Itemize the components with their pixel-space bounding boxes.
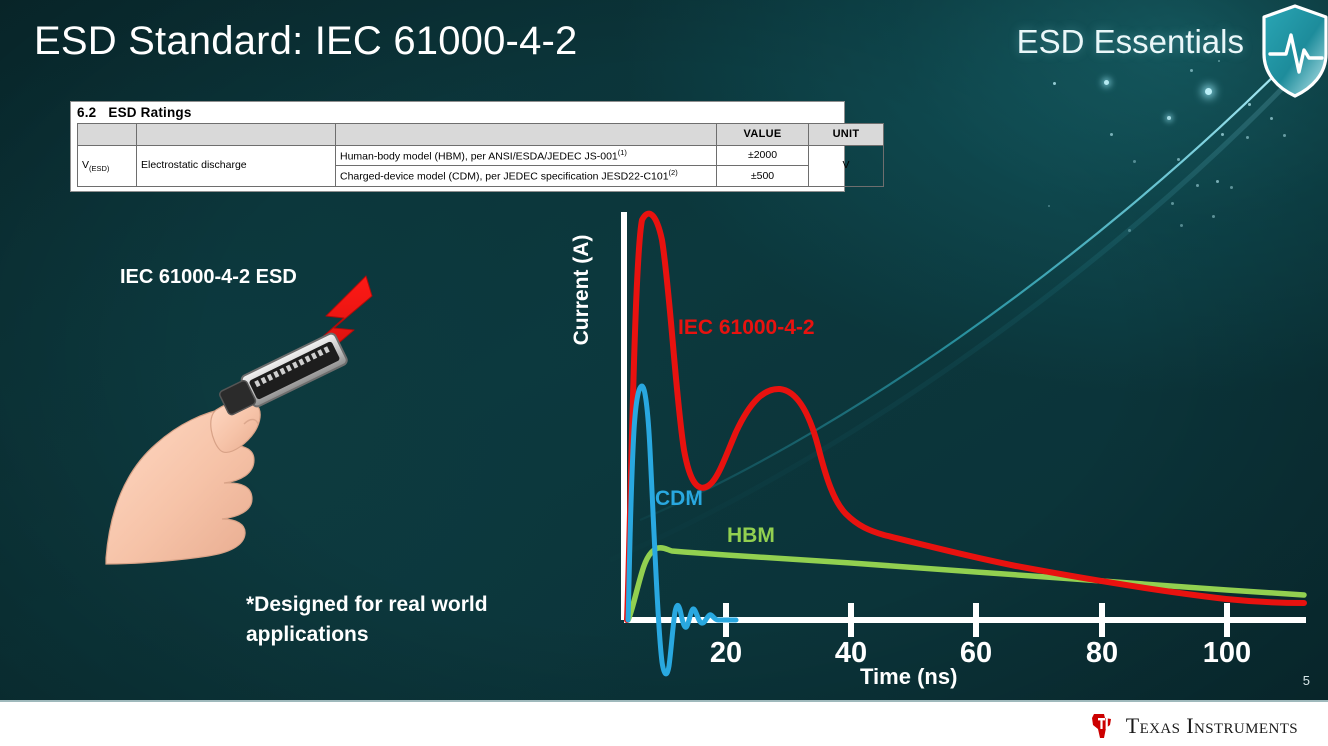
note-line-2: applications: [246, 623, 369, 646]
section-title: ESD Ratings: [108, 105, 191, 120]
series-line-iec: [627, 214, 1304, 620]
esd-waveform-chart: 20 40 60 80 100: [566, 200, 1311, 700]
x-tick-label-100: 100: [1203, 637, 1251, 669]
hand-holding-hdmi-connector-icon: [96, 258, 426, 568]
header-blank-symbol: [78, 124, 137, 146]
hdmi-connector-icon: [217, 332, 349, 420]
description-text: Charged-device model (CDM), per JEDEC sp…: [340, 171, 669, 183]
shield-heartbeat-icon: [1258, 2, 1328, 100]
cell-value-hbm: ±2000: [717, 146, 809, 166]
esd-ratings-table: 6.2ESD Ratings VALUE UNIT V(ESD) Electro…: [70, 101, 845, 192]
footnote-marker: (2): [669, 168, 678, 177]
cell-symbol: V(ESD): [78, 146, 137, 187]
brand-label: ESD Essentials: [1017, 23, 1244, 61]
header-unit: UNIT: [809, 124, 884, 146]
table-row: V(ESD) Electrostatic discharge Human-bod…: [78, 146, 884, 166]
series-label-cdm: CDM: [655, 487, 703, 511]
description-text: Human-body model (HBM), per ANSI/ESDA/JE…: [340, 151, 618, 163]
page-title: ESD Standard: IEC 61000-4-2: [34, 19, 578, 64]
company-name: Texas Instruments: [1126, 713, 1298, 739]
section-number: 6.2: [77, 105, 96, 120]
x-tick-label-20: 20: [710, 637, 742, 669]
symbol-subscript: (ESD): [89, 164, 109, 173]
cell-parameter: Electrostatic discharge: [137, 146, 336, 187]
header-blank-parameter: [137, 124, 336, 146]
cell-value-cdm: ±500: [717, 166, 809, 186]
series-label-iec: IEC 61000-4-2: [678, 316, 815, 340]
ti-texas-mark-icon: [1087, 711, 1117, 741]
table-header-row: VALUE UNIT: [78, 124, 884, 146]
note-text: *Designed for real world applications: [246, 590, 546, 651]
x-tick-label-60: 60: [960, 637, 992, 669]
texas-instruments-logo-icon: Texas Instruments: [1087, 711, 1298, 741]
symbol-text: V: [82, 159, 89, 171]
header-value: VALUE: [717, 124, 809, 146]
cell-description-cdm: Charged-device model (CDM), per JEDEC sp…: [336, 166, 717, 186]
cell-unit: V: [809, 146, 884, 187]
slide-number: 5: [1303, 673, 1310, 688]
footnote-marker: (1): [618, 148, 627, 157]
x-axis-title: Time (ns): [860, 664, 957, 690]
series-line-hbm: [628, 548, 1304, 620]
note-line-1: *Designed for real world: [246, 593, 488, 616]
cell-description-hbm: Human-body model (HBM), per ANSI/ESDA/JE…: [336, 146, 717, 166]
table-section-heading: 6.2ESD Ratings: [71, 102, 844, 123]
x-tick-label-80: 80: [1086, 637, 1118, 669]
header-blank-description: [336, 124, 717, 146]
series-label-hbm: HBM: [727, 524, 775, 548]
y-axis-title: Current (A): [570, 210, 594, 370]
presentation-slide: ESD Standard: IEC 61000-4-2 ESD Essentia…: [0, 0, 1328, 746]
